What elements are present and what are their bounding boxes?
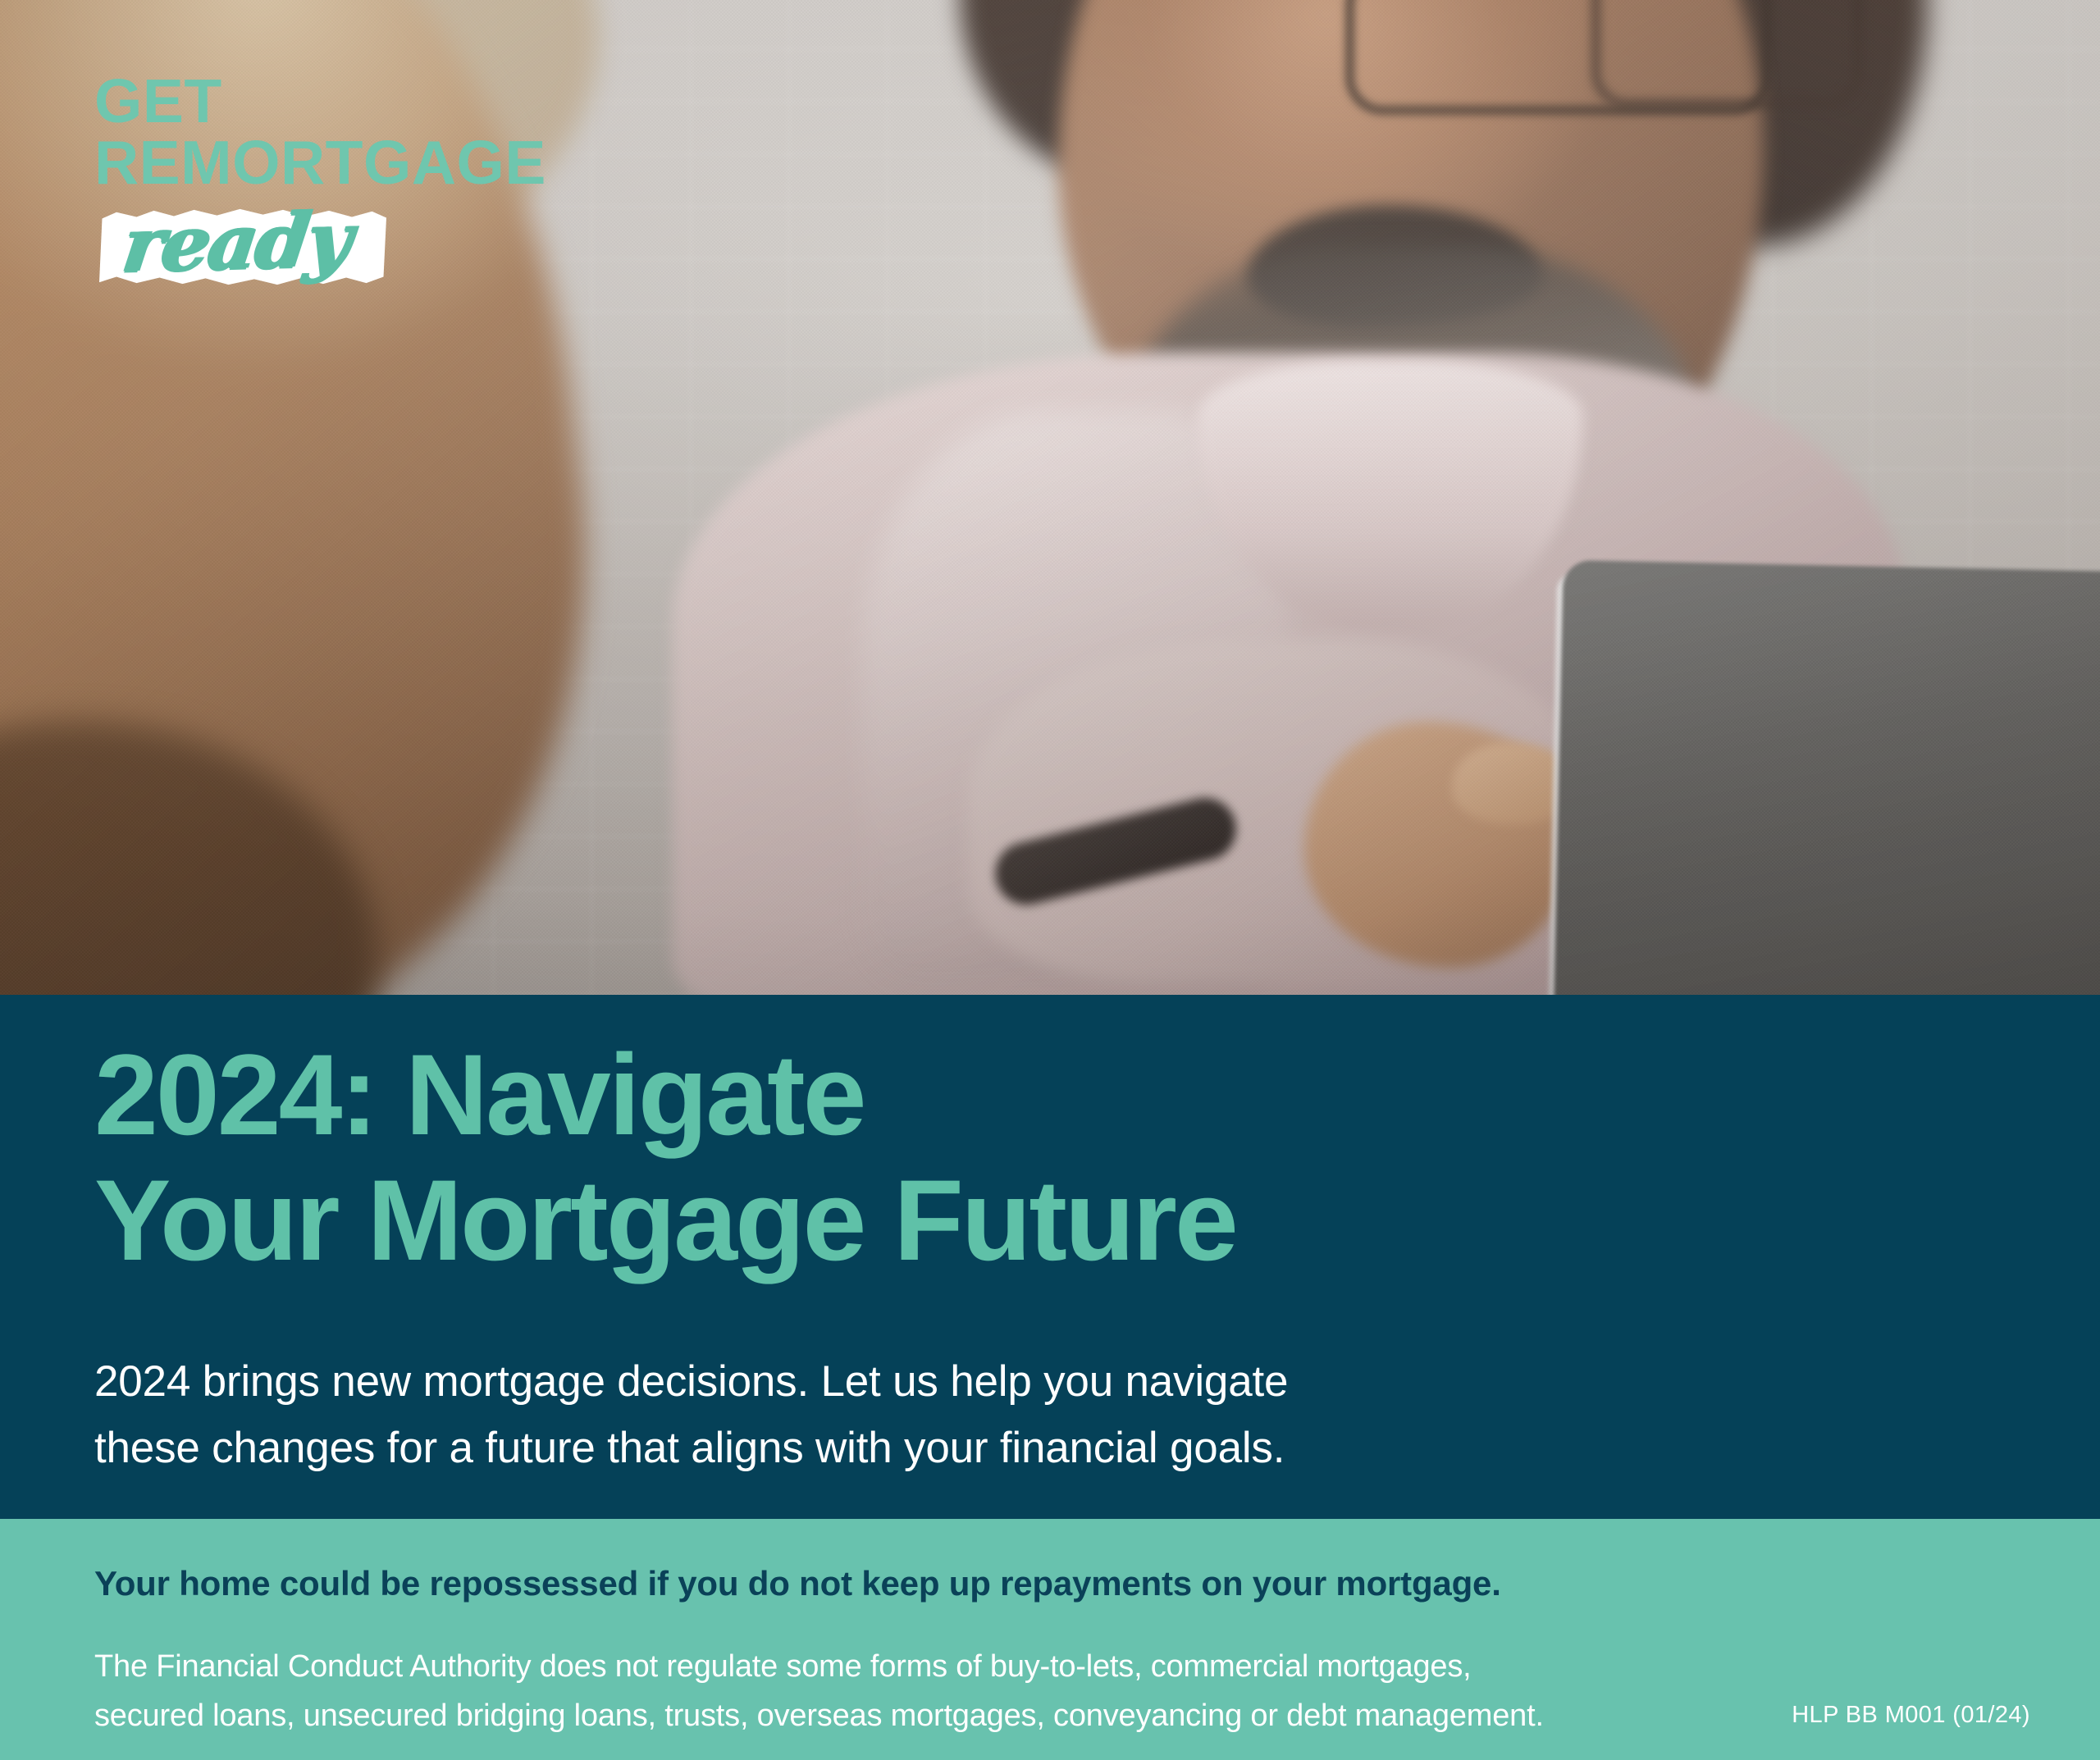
subtitle: 2024 brings new mortgage decisions. Let … — [94, 1349, 1288, 1481]
logo-script-ready: ready — [118, 201, 354, 282]
disclaimer-band: Your home could be repossessed if you do… — [0, 1519, 2100, 1760]
logo-line-get: GET — [94, 72, 652, 130]
logo-ready-block: ready — [99, 199, 377, 288]
reference-code: HLP BB M001 (01/24) — [1792, 1702, 2030, 1729]
headline-line-1: 2024: Navigate — [94, 1033, 1236, 1158]
repossession-warning: Your home could be repossessed if you do… — [94, 1564, 1501, 1603]
subtitle-line-1: 2024 brings new mortgage decisions. Let … — [94, 1349, 1288, 1416]
headline-line-2: Your Mortgage Future — [94, 1158, 1236, 1284]
marketing-banner: GET REMORTGAGE ready 2024: Navigate Your… — [0, 0, 2100, 1760]
fca-disclaimer-line-1: The Financial Conduct Authority does not… — [94, 1642, 1544, 1691]
page-title: 2024: Navigate Your Mortgage Future — [94, 1033, 1236, 1283]
fca-disclaimer-line-2: secured loans, unsecured bridging loans,… — [94, 1691, 1544, 1740]
fca-disclaimer: The Financial Conduct Authority does not… — [94, 1642, 1544, 1740]
subtitle-line-2: these changes for a future that aligns w… — [94, 1416, 1288, 1482]
logo-line-remortgage: REMORTGAGE — [94, 134, 652, 192]
brand-logo[interactable]: GET REMORTGAGE ready — [94, 72, 652, 288]
headline-band: 2024: Navigate Your Mortgage Future 2024… — [0, 995, 2100, 1519]
